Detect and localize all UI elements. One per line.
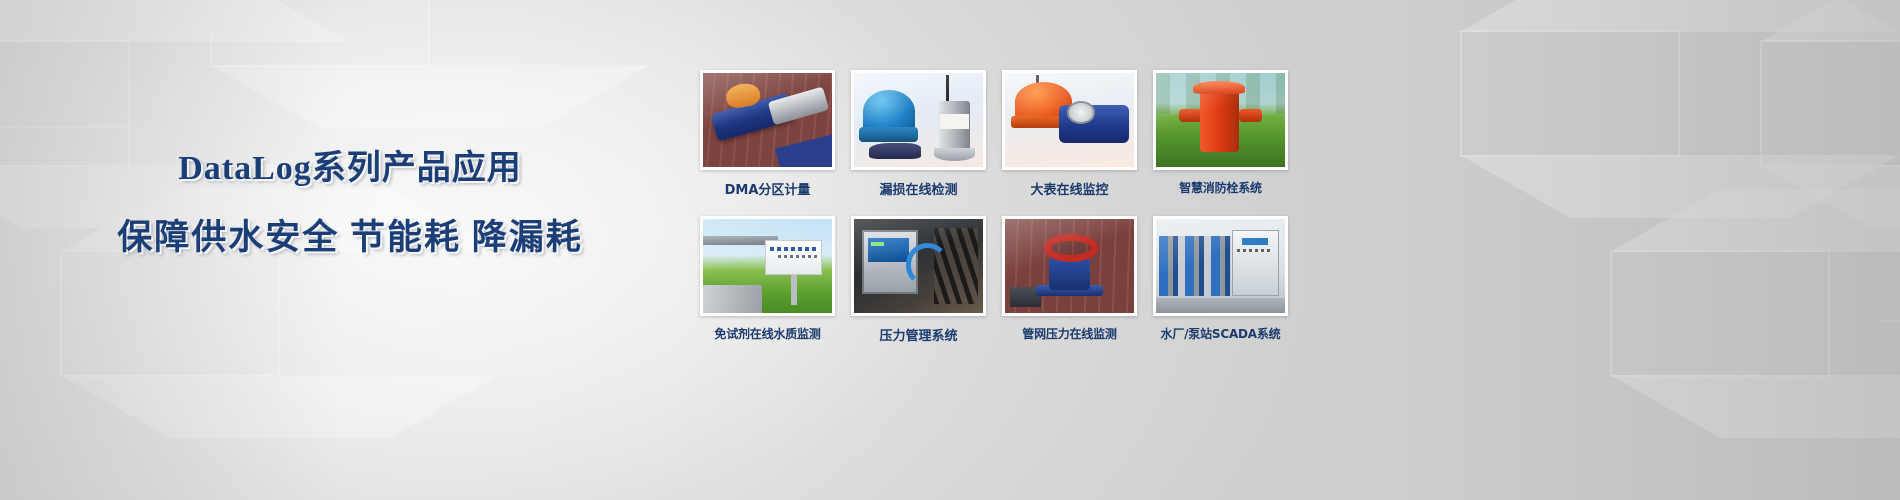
thumbnail-frame[interactable] [700, 216, 835, 316]
card-caption: DMA分区计量 [700, 179, 835, 198]
photo-detail [768, 86, 829, 125]
card-row-2: 免试剂在线水质监测 压力管理系统 [700, 216, 1300, 344]
product-card-scada-system[interactable]: 水厂/泵站SCADA系统 [1153, 216, 1288, 344]
product-card-leak-detection[interactable]: 漏损在线检测 [851, 70, 986, 198]
photo-detail [778, 255, 817, 258]
photo-detail [859, 127, 918, 142]
fire-hydrant-photo [1156, 73, 1285, 167]
thumbnail-frame[interactable] [1153, 70, 1288, 170]
photo-detail [791, 274, 797, 306]
thumbnail-frame[interactable] [851, 70, 986, 170]
product-card-pressure-management[interactable]: 压力管理系统 [851, 216, 986, 344]
product-card-dma-metering[interactable]: DMA分区计量 [700, 70, 835, 198]
photo-detail [1159, 236, 1231, 296]
pipe-pressure-valve-photo [1005, 219, 1134, 313]
scada-pump-station-photo [1156, 219, 1285, 313]
headline-line-2: 保障供水安全 节能耗 降漏耗 [0, 216, 700, 260]
photo-detail [871, 242, 884, 247]
thumbnail-frame[interactable] [700, 70, 835, 170]
product-card-reagent-free-water-quality[interactable]: 免试剂在线水质监测 [700, 216, 835, 344]
photo-detail [934, 148, 975, 161]
large-meter-photo [1005, 73, 1134, 167]
product-card-pipe-network-pressure[interactable]: 管网压力在线监测 [1002, 216, 1137, 344]
card-caption: 水厂/泵站SCADA系统 [1153, 325, 1288, 342]
photo-detail [1179, 109, 1202, 122]
photo-detail [775, 134, 832, 167]
pressure-cabinet-photo [854, 219, 983, 313]
product-application-banner: DataLog系列产品应用 保障供水安全 节能耗 降漏耗 DMA分区计量 [0, 0, 1900, 500]
card-caption: 压力管理系统 [851, 325, 986, 344]
photo-detail [906, 243, 950, 286]
photo-detail [1200, 86, 1239, 152]
photo-detail [1044, 234, 1098, 262]
photo-detail [1237, 249, 1273, 252]
thumbnail-frame[interactable] [1153, 216, 1288, 316]
headline-block: DataLog系列产品应用 保障供水安全 节能耗 降漏耗 [0, 148, 700, 260]
photo-detail [1156, 298, 1285, 313]
photo-detail [1193, 81, 1245, 94]
photo-detail [1242, 238, 1268, 246]
photo-detail [765, 240, 822, 276]
photo-detail [1049, 258, 1090, 290]
photo-detail [940, 114, 968, 129]
photo-detail [1239, 109, 1262, 122]
photo-detail [703, 285, 762, 313]
card-caption: 漏损在线检测 [851, 179, 986, 198]
card-caption: 管网压力在线监测 [1002, 325, 1137, 342]
card-caption: 免试剂在线水质监测 [700, 325, 835, 342]
headline-line-1: DataLog系列产品应用 [0, 148, 700, 190]
water-quality-station-photo [703, 219, 832, 313]
valve-meter-photo [703, 73, 832, 167]
leak-logger-photo [854, 73, 983, 167]
card-caption: 大表在线监控 [1002, 179, 1137, 198]
thumbnail-frame[interactable] [1002, 70, 1137, 170]
photo-detail [770, 247, 816, 251]
product-card-grid: DMA分区计量 漏损在线检测 [700, 70, 1300, 344]
photo-detail [869, 143, 921, 160]
card-row-1: DMA分区计量 漏损在线检测 [700, 70, 1300, 198]
product-card-large-meter-monitoring[interactable]: 大表在线监控 [1002, 70, 1137, 198]
card-caption: 智慧消防栓系统 [1153, 179, 1288, 196]
thumbnail-frame[interactable] [851, 216, 986, 316]
product-card-smart-hydrant[interactable]: 智慧消防栓系统 [1153, 70, 1288, 198]
thumbnail-frame[interactable] [1002, 216, 1137, 316]
photo-detail [1067, 101, 1095, 124]
